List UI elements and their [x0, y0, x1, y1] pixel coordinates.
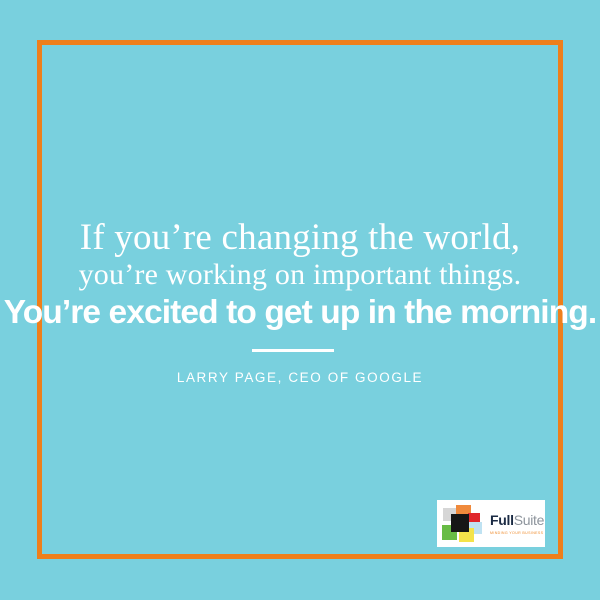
fullsuite-squares-icon — [442, 505, 487, 543]
fullsuite-wordmark: FullSuite MINDING YOUR BUSINESS — [490, 512, 542, 535]
divider-rule — [252, 349, 334, 352]
quote-line-1: If you’re changing the world, — [0, 218, 600, 258]
logo-tagline: MINDING YOUR BUSINESS — [490, 531, 542, 535]
quote-text-block: If you’re changing the world, you’re wor… — [0, 218, 600, 333]
quote-attribution: LARRY PAGE, CEO OF GOOGLE — [0, 370, 600, 385]
fullsuite-logo-card: FullSuite MINDING YOUR BUSINESS — [437, 500, 545, 547]
quote-line-2: you’re working on important things. — [0, 258, 600, 292]
quote-line-3: You’re excited to get up in the morning. — [0, 293, 600, 333]
quote-poster: If you’re changing the world, you’re wor… — [0, 0, 600, 600]
logo-name-bold: Full — [490, 512, 514, 528]
logo-square-black-icon — [451, 514, 469, 532]
logo-name-light: Suite — [514, 512, 544, 528]
